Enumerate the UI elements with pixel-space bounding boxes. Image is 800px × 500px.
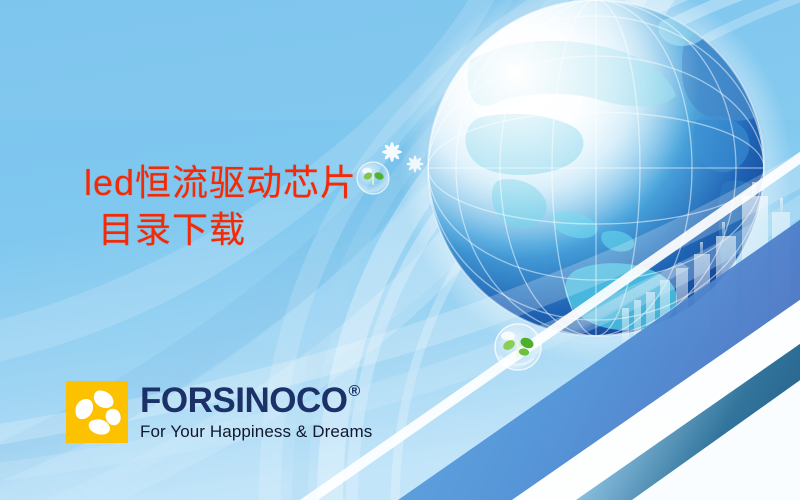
sparkle-icon [382,142,402,162]
forsinoco-flower-mark [66,381,128,443]
headline-line-2: 目录下载 [84,207,357,254]
bubble-sprout-lower [495,324,541,370]
headline-text: led恒流驱动芯片 目录下载 [84,160,357,254]
sparkle-icon [406,155,423,172]
logo-text-block: FORSINOCO ® For Your Happiness & Dreams [140,381,372,442]
logo-tagline: For Your Happiness & Dreams [140,422,372,442]
forsinoco-logo[interactable]: FORSINOCO ® For Your Happiness & Dreams [66,381,372,443]
flower-petals-icon [66,381,128,443]
wordmark-name: FORSINOCO [140,383,347,418]
headline-line-1: led恒流驱动芯片 [84,160,357,207]
registered-trademark-icon: ® [348,384,359,400]
bubble-sprout-upper [357,162,389,194]
wordmark: FORSINOCO ® [140,383,372,418]
promo-banner: led恒流驱动芯片 目录下载 FORSINOCO ® [0,0,800,500]
